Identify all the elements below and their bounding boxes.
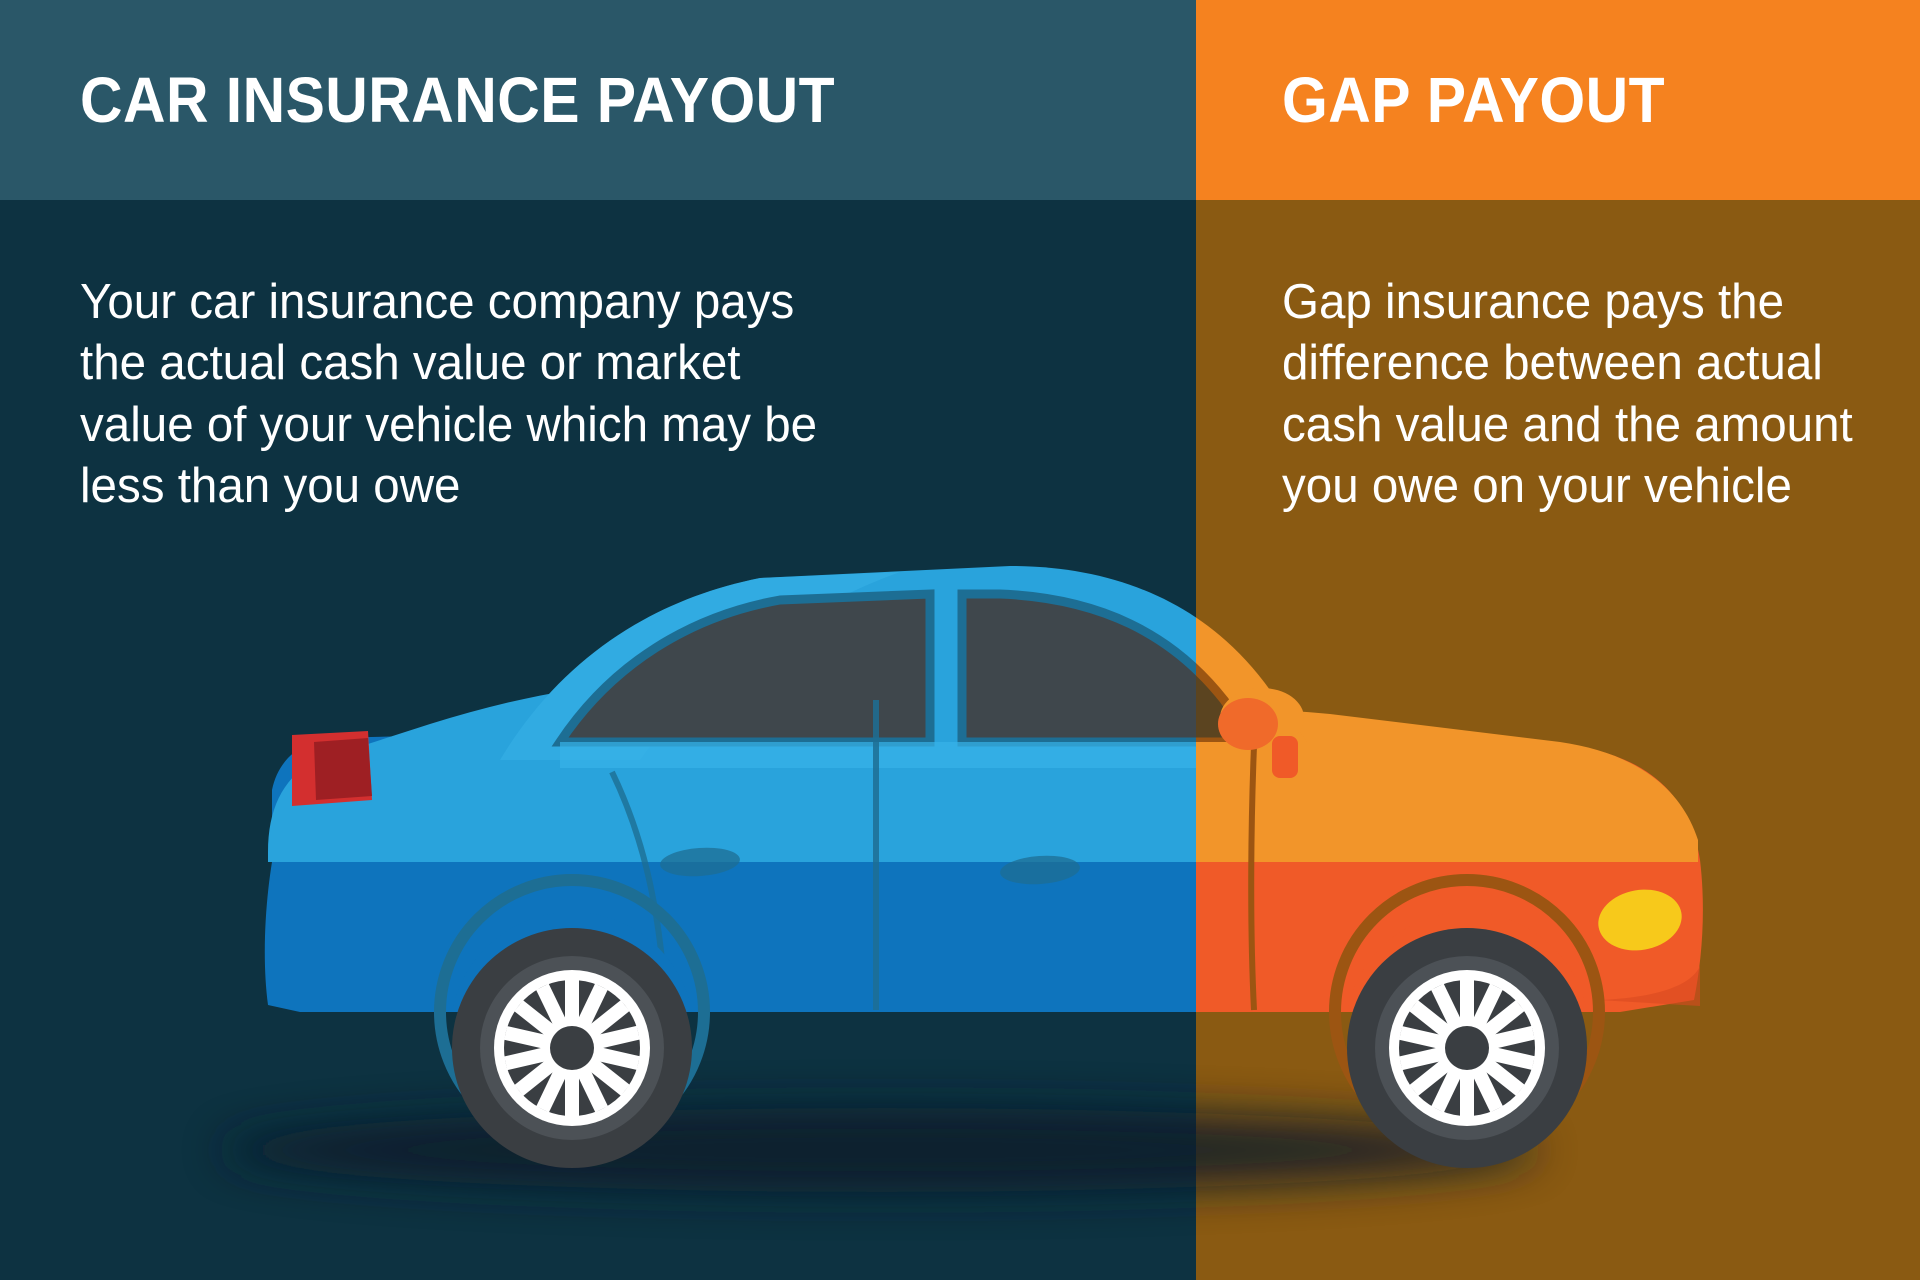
body-text-car-insurance-payout: Your car insurance company pays the actu…	[80, 272, 866, 517]
page-title-car-insurance-payout: CAR INSURANCE PAYOUT	[80, 68, 835, 132]
infographic-canvas: CAR INSURANCE PAYOUT GAP PAYOUT Your car…	[0, 0, 1920, 1280]
header-car-insurance-payout: CAR INSURANCE PAYOUT	[0, 0, 1196, 200]
header-gap-payout: GAP PAYOUT	[1196, 0, 1920, 200]
page-title-gap-payout: GAP PAYOUT	[1282, 68, 1665, 132]
body-text-gap-payout: Gap insurance pays the difference betwee…	[1282, 272, 1864, 517]
